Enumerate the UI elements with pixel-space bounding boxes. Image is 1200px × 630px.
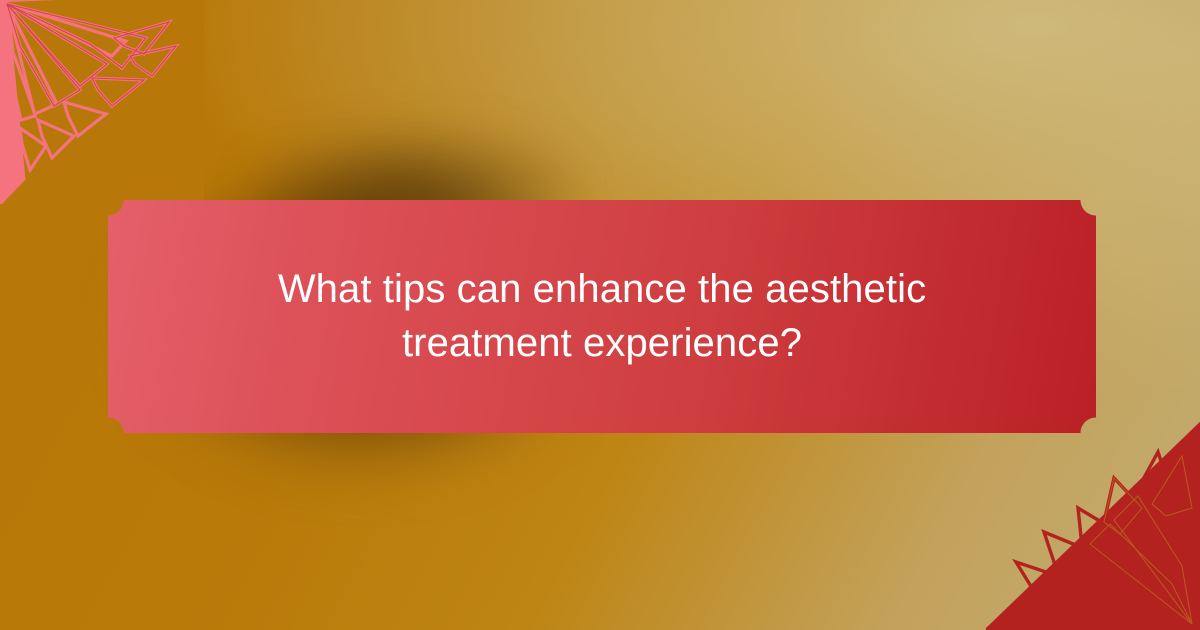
headline-text: What tips can enhance the aesthetic trea…: [223, 263, 981, 369]
headline-banner: What tips can enhance the aesthetic trea…: [108, 200, 1096, 433]
social-card: What tips can enhance the aesthetic trea…: [0, 0, 1200, 630]
